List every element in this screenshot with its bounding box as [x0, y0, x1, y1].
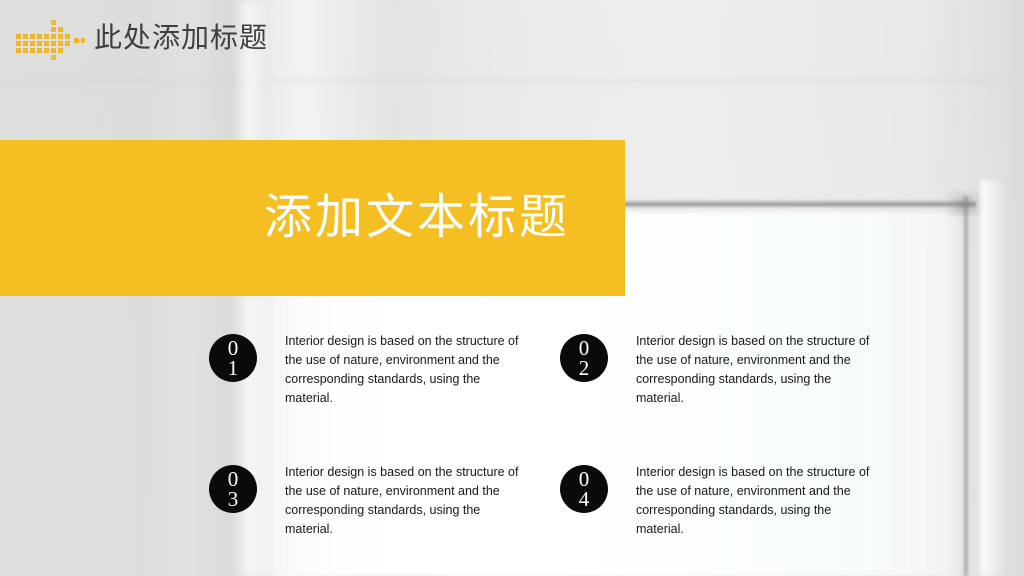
- content-item-02[interactable]: 0 2 Interior design is based on the stru…: [560, 332, 909, 408]
- content-item-03[interactable]: 0 3 Interior design is based on the stru…: [209, 463, 560, 539]
- badge-digit-bottom: 4: [579, 489, 590, 509]
- slide-header: 此处添加标题: [0, 0, 1024, 78]
- background-window-frame-outer: [980, 180, 1004, 576]
- content-item-04[interactable]: 0 4 Interior design is based on the stru…: [560, 463, 909, 539]
- item-description-01: Interior design is based on the structur…: [285, 332, 530, 408]
- item-number-badge-03: 0 3: [209, 465, 257, 513]
- background-frame-corner: [946, 190, 980, 216]
- badge-digit-bottom: 3: [228, 489, 239, 509]
- badge-digit-bottom: 1: [228, 358, 239, 378]
- content-items-grid: 0 1 Interior design is based on the stru…: [209, 332, 909, 539]
- item-number-badge-02: 0 2: [560, 334, 608, 382]
- background-right-wall: [1006, 0, 1024, 576]
- background-wall-seam: [0, 78, 1024, 83]
- badge-digit-top: 0: [228, 469, 239, 489]
- item-number-badge-01: 0 1: [209, 334, 257, 382]
- item-description-04: Interior design is based on the structur…: [636, 463, 881, 539]
- pixel-arrow-right-icon: [16, 16, 88, 60]
- header-title: 此处添加标题: [94, 19, 268, 57]
- title-banner: 添加文本标题: [0, 140, 625, 296]
- item-description-03: Interior design is based on the structur…: [285, 463, 530, 539]
- items-row-top: 0 1 Interior design is based on the stru…: [209, 332, 909, 408]
- badge-digit-top: 0: [228, 338, 239, 358]
- item-number-badge-04: 0 4: [560, 465, 608, 513]
- background-window-mullion: [962, 196, 969, 576]
- items-row-spacer: [209, 408, 909, 463]
- item-description-02: Interior design is based on the structur…: [636, 332, 881, 408]
- badge-digit-top: 0: [579, 338, 590, 358]
- content-item-01[interactable]: 0 1 Interior design is based on the stru…: [209, 332, 560, 408]
- items-row-bottom: 0 3 Interior design is based on the stru…: [209, 463, 909, 539]
- badge-digit-top: 0: [579, 469, 590, 489]
- banner-title-text: 添加文本标题: [264, 188, 625, 248]
- badge-digit-bottom: 2: [579, 358, 590, 378]
- presentation-slide: 此处添加标题 添加文本标题 0 1 Interior design is bas…: [0, 0, 1024, 576]
